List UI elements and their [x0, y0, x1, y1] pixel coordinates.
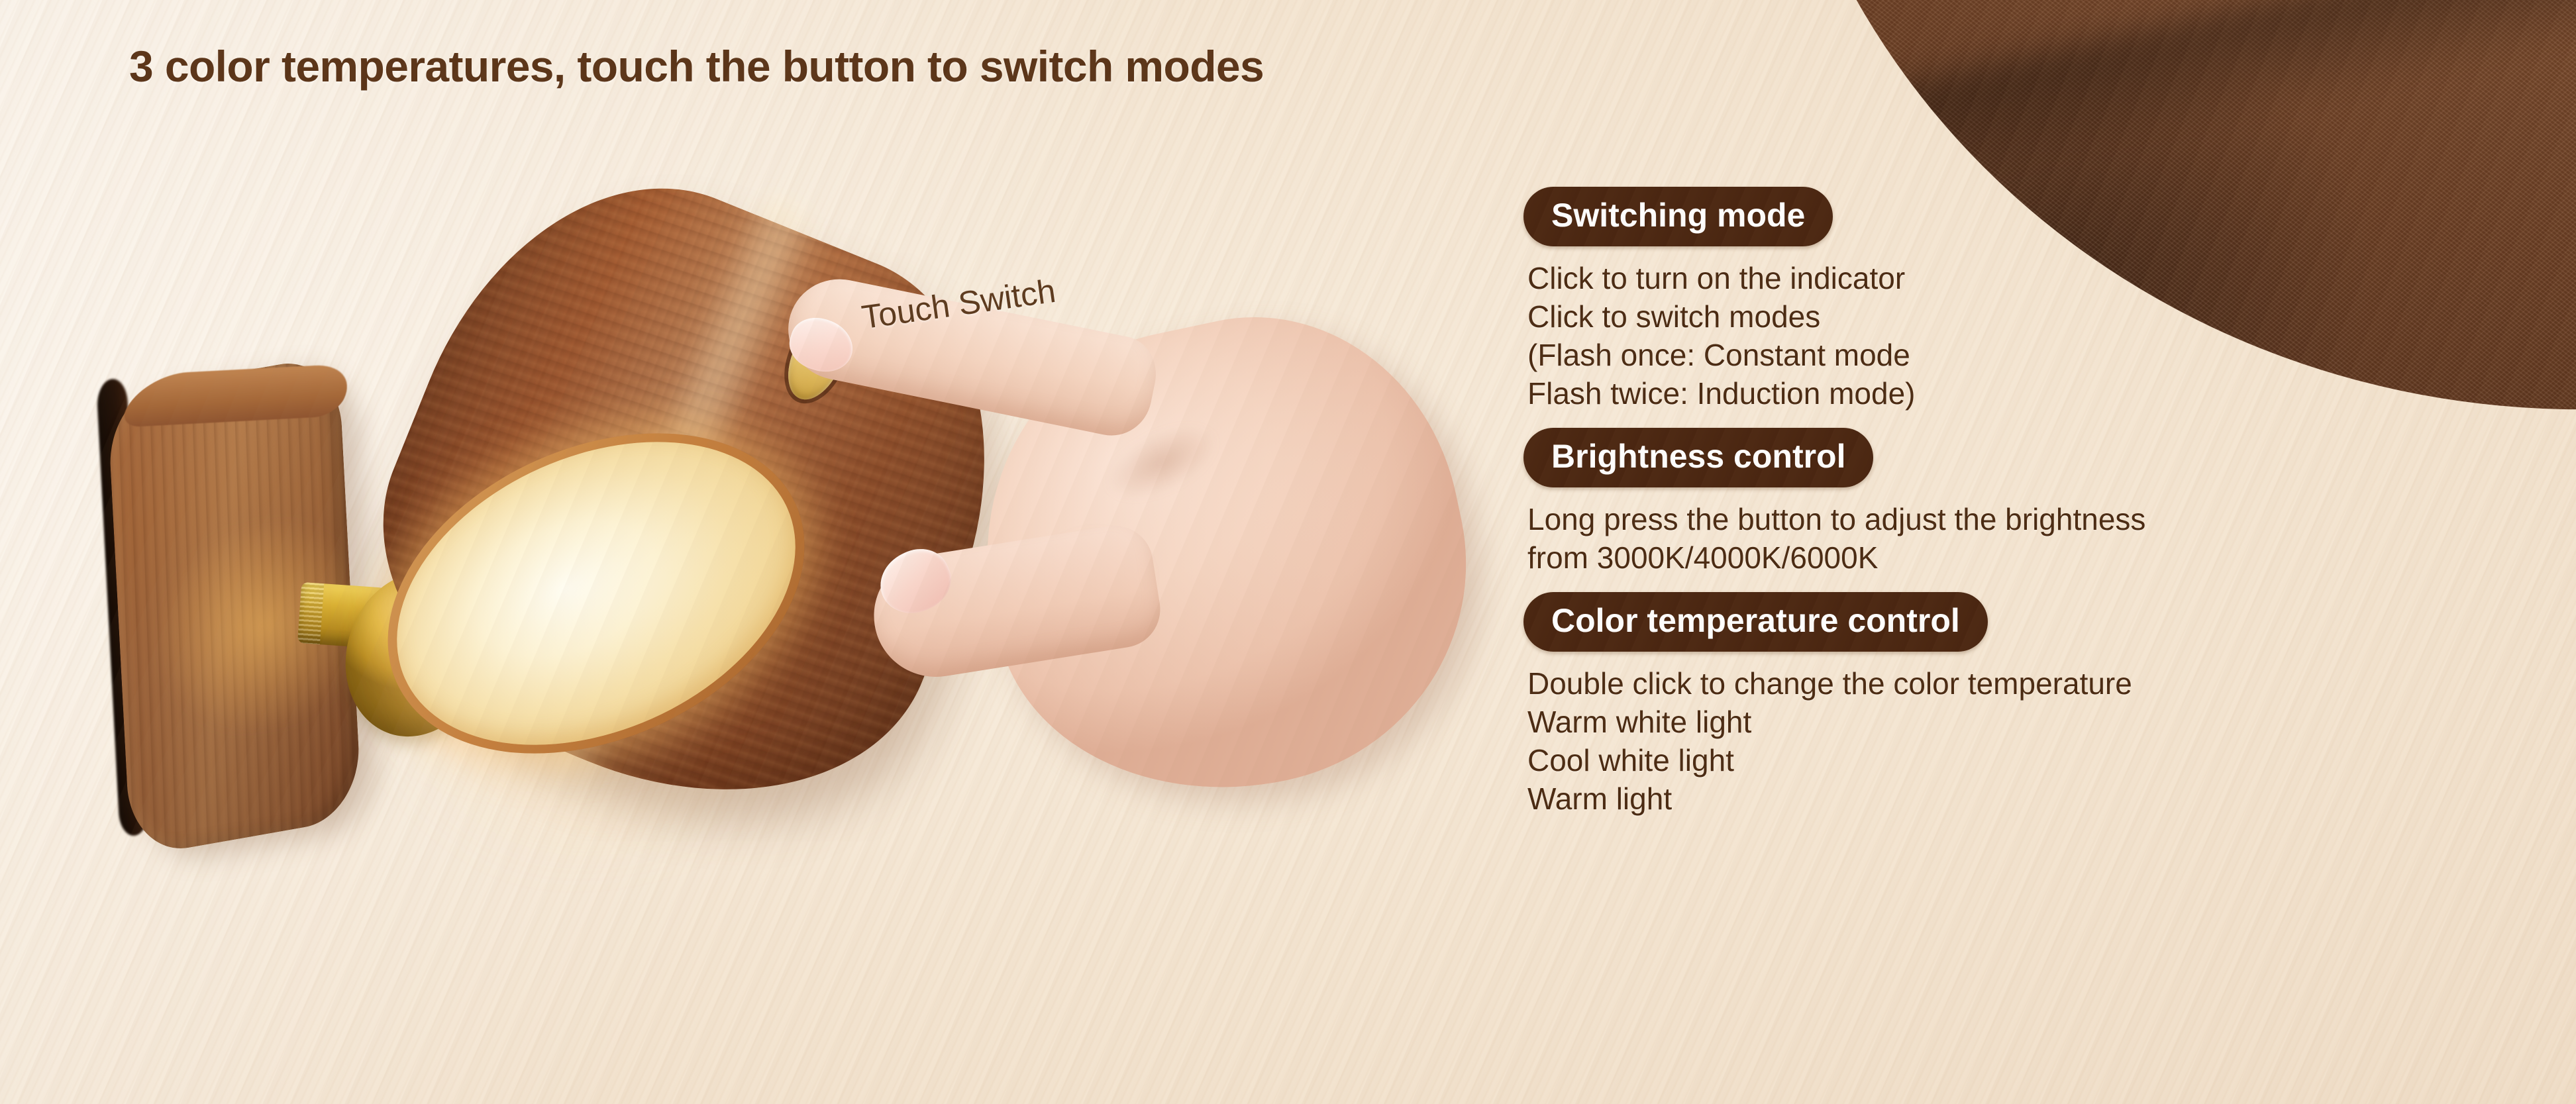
- instruction-line: Click to turn on the indicator: [1527, 260, 2484, 298]
- instruction-line: Warm white light: [1527, 703, 2484, 742]
- section-brightness-control: Brightness control Long press the button…: [1523, 428, 2484, 577]
- instruction-line: Double click to change the color tempera…: [1527, 665, 2484, 703]
- section-switching-mode: Switching mode Click to turn on the indi…: [1523, 187, 2484, 413]
- instruction-line: Warm light: [1527, 780, 2484, 819]
- instruction-line: Click to switch modes: [1527, 298, 2484, 336]
- product-feature-banner: 3 color temperatures, touch the button t…: [0, 0, 2576, 1104]
- hand-pressing-button: [821, 278, 1583, 821]
- section-color-temperature-control: Color temperature control Double click t…: [1523, 592, 2484, 819]
- feature-instructions-panel: Switching mode Click to turn on the indi…: [1523, 187, 2484, 833]
- instruction-line: Cool white light: [1527, 742, 2484, 780]
- badge-switching-mode: Switching mode: [1523, 187, 1833, 246]
- switching-mode-lines: Click to turn on the indicator Click to …: [1527, 260, 2484, 413]
- brightness-control-lines: Long press the button to adjust the brig…: [1527, 501, 2484, 577]
- instruction-line: Flash twice: Induction mode): [1527, 375, 2484, 413]
- instruction-line: (Flash once: Constant mode: [1527, 336, 2484, 375]
- instruction-line: Long press the button to adjust the brig…: [1527, 501, 2484, 539]
- instruction-line: from 3000K/4000K/6000K: [1527, 539, 2484, 577]
- badge-color-temperature-control: Color temperature control: [1523, 592, 1988, 652]
- color-temperature-lines: Double click to change the color tempera…: [1527, 665, 2484, 819]
- badge-brightness-control: Brightness control: [1523, 428, 1873, 487]
